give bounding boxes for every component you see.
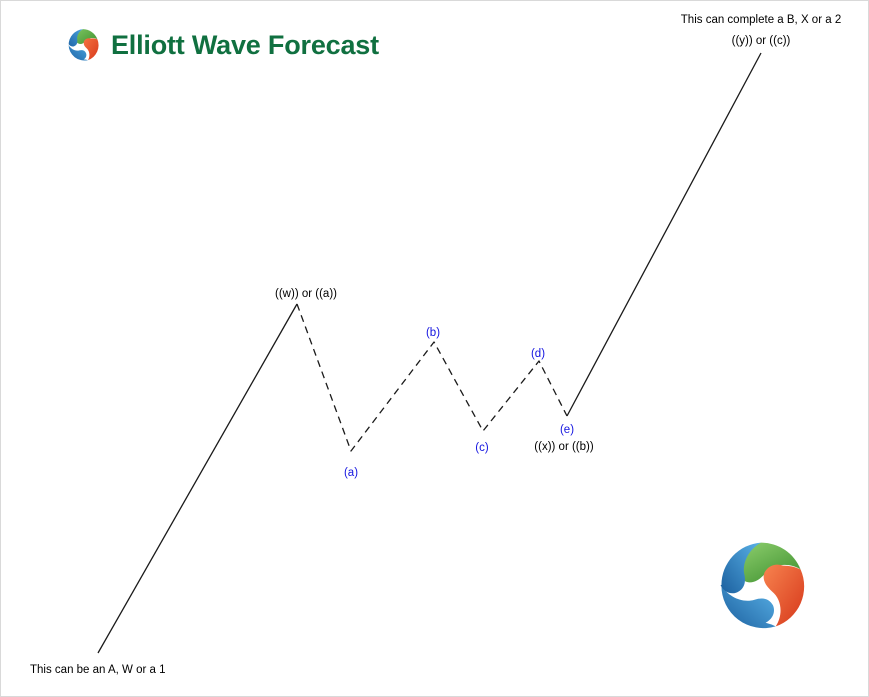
annotation-top-right-line1: This can complete a B, X or a 2 [681,13,841,28]
watermark-swirl-logo-icon [715,539,807,631]
pivot-label-b: (b) [426,326,440,340]
impulse-up-line [98,304,297,653]
annotation-bottom-left: This can be an A, W or a 1 [30,663,166,678]
pivot-label-d: (d) [531,347,545,361]
pivot-label-a: (a) [344,466,358,480]
annotation-first-peak: ((w)) or ((a)) [275,287,337,302]
annotation-top-right-line2: ((y)) or ((c)) [732,34,791,49]
final-rally-line [567,53,761,416]
pivot-label-c: (c) [475,441,488,455]
annotation-triangle-end: ((x)) or ((b)) [534,440,593,455]
pivot-label-e: (e) [560,423,574,437]
elliott-wave-chart-page: Elliott Wave Forecast This can be an A, … [0,0,869,697]
